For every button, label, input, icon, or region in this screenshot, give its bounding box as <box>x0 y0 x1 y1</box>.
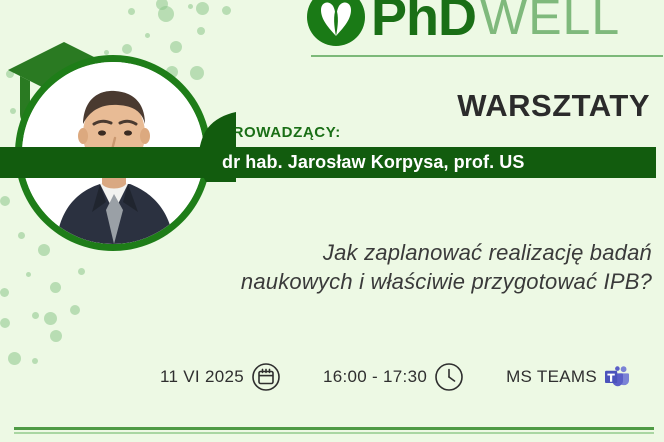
platform-text: MS TEAMS <box>506 367 597 387</box>
leaf-circle-icon <box>305 0 367 48</box>
poster-canvas: PhD WELL WARSZTATY PROWADZĄCY: dr hab. J… <box>0 0 664 442</box>
footer-divider-light <box>14 432 654 434</box>
dot <box>0 318 10 328</box>
header-divider <box>311 55 663 57</box>
dot <box>128 8 135 15</box>
date-text: 11 VI 2025 <box>160 367 244 387</box>
detail-platform: MS TEAMS <box>506 364 630 390</box>
dot <box>0 288 9 297</box>
event-details-row: 11 VI 2025 16:00 - 17:30 MS TEAMS <box>160 362 630 392</box>
ms-teams-icon <box>604 364 630 390</box>
dot <box>32 358 38 364</box>
dot <box>70 305 80 315</box>
dot <box>196 2 209 15</box>
footer-divider <box>14 427 654 430</box>
brand-logo: PhD WELL <box>305 0 620 48</box>
speaker-name: dr hab. Jarosław Korpysa, prof. US <box>222 152 524 173</box>
calendar-icon <box>251 362 281 392</box>
dot <box>0 196 10 206</box>
dot <box>145 33 150 38</box>
dot <box>50 330 62 342</box>
dot <box>222 6 231 15</box>
dot <box>44 312 57 325</box>
title-line-1: Jak zaplanować realizację badań <box>24 238 652 267</box>
dot <box>32 312 39 319</box>
detail-date: 11 VI 2025 <box>160 362 281 392</box>
dot <box>158 6 174 22</box>
dot <box>197 27 205 35</box>
title-line-2: naukowych i właściwie przygotować IPB? <box>24 267 652 296</box>
dot <box>170 41 182 53</box>
dot <box>188 4 193 9</box>
speaker-label: PROWADZĄCY: <box>222 124 341 141</box>
event-type-label: WARSZTATY <box>457 88 650 124</box>
time-text: 16:00 - 17:30 <box>323 367 427 387</box>
dot <box>8 352 21 365</box>
clock-icon <box>434 362 464 392</box>
detail-time: 16:00 - 17:30 <box>323 362 464 392</box>
logo-text-phd: PhD <box>371 0 476 44</box>
logo-text-well: WELL <box>480 0 620 42</box>
workshop-title: Jak zaplanować realizację badań naukowyc… <box>24 238 652 296</box>
